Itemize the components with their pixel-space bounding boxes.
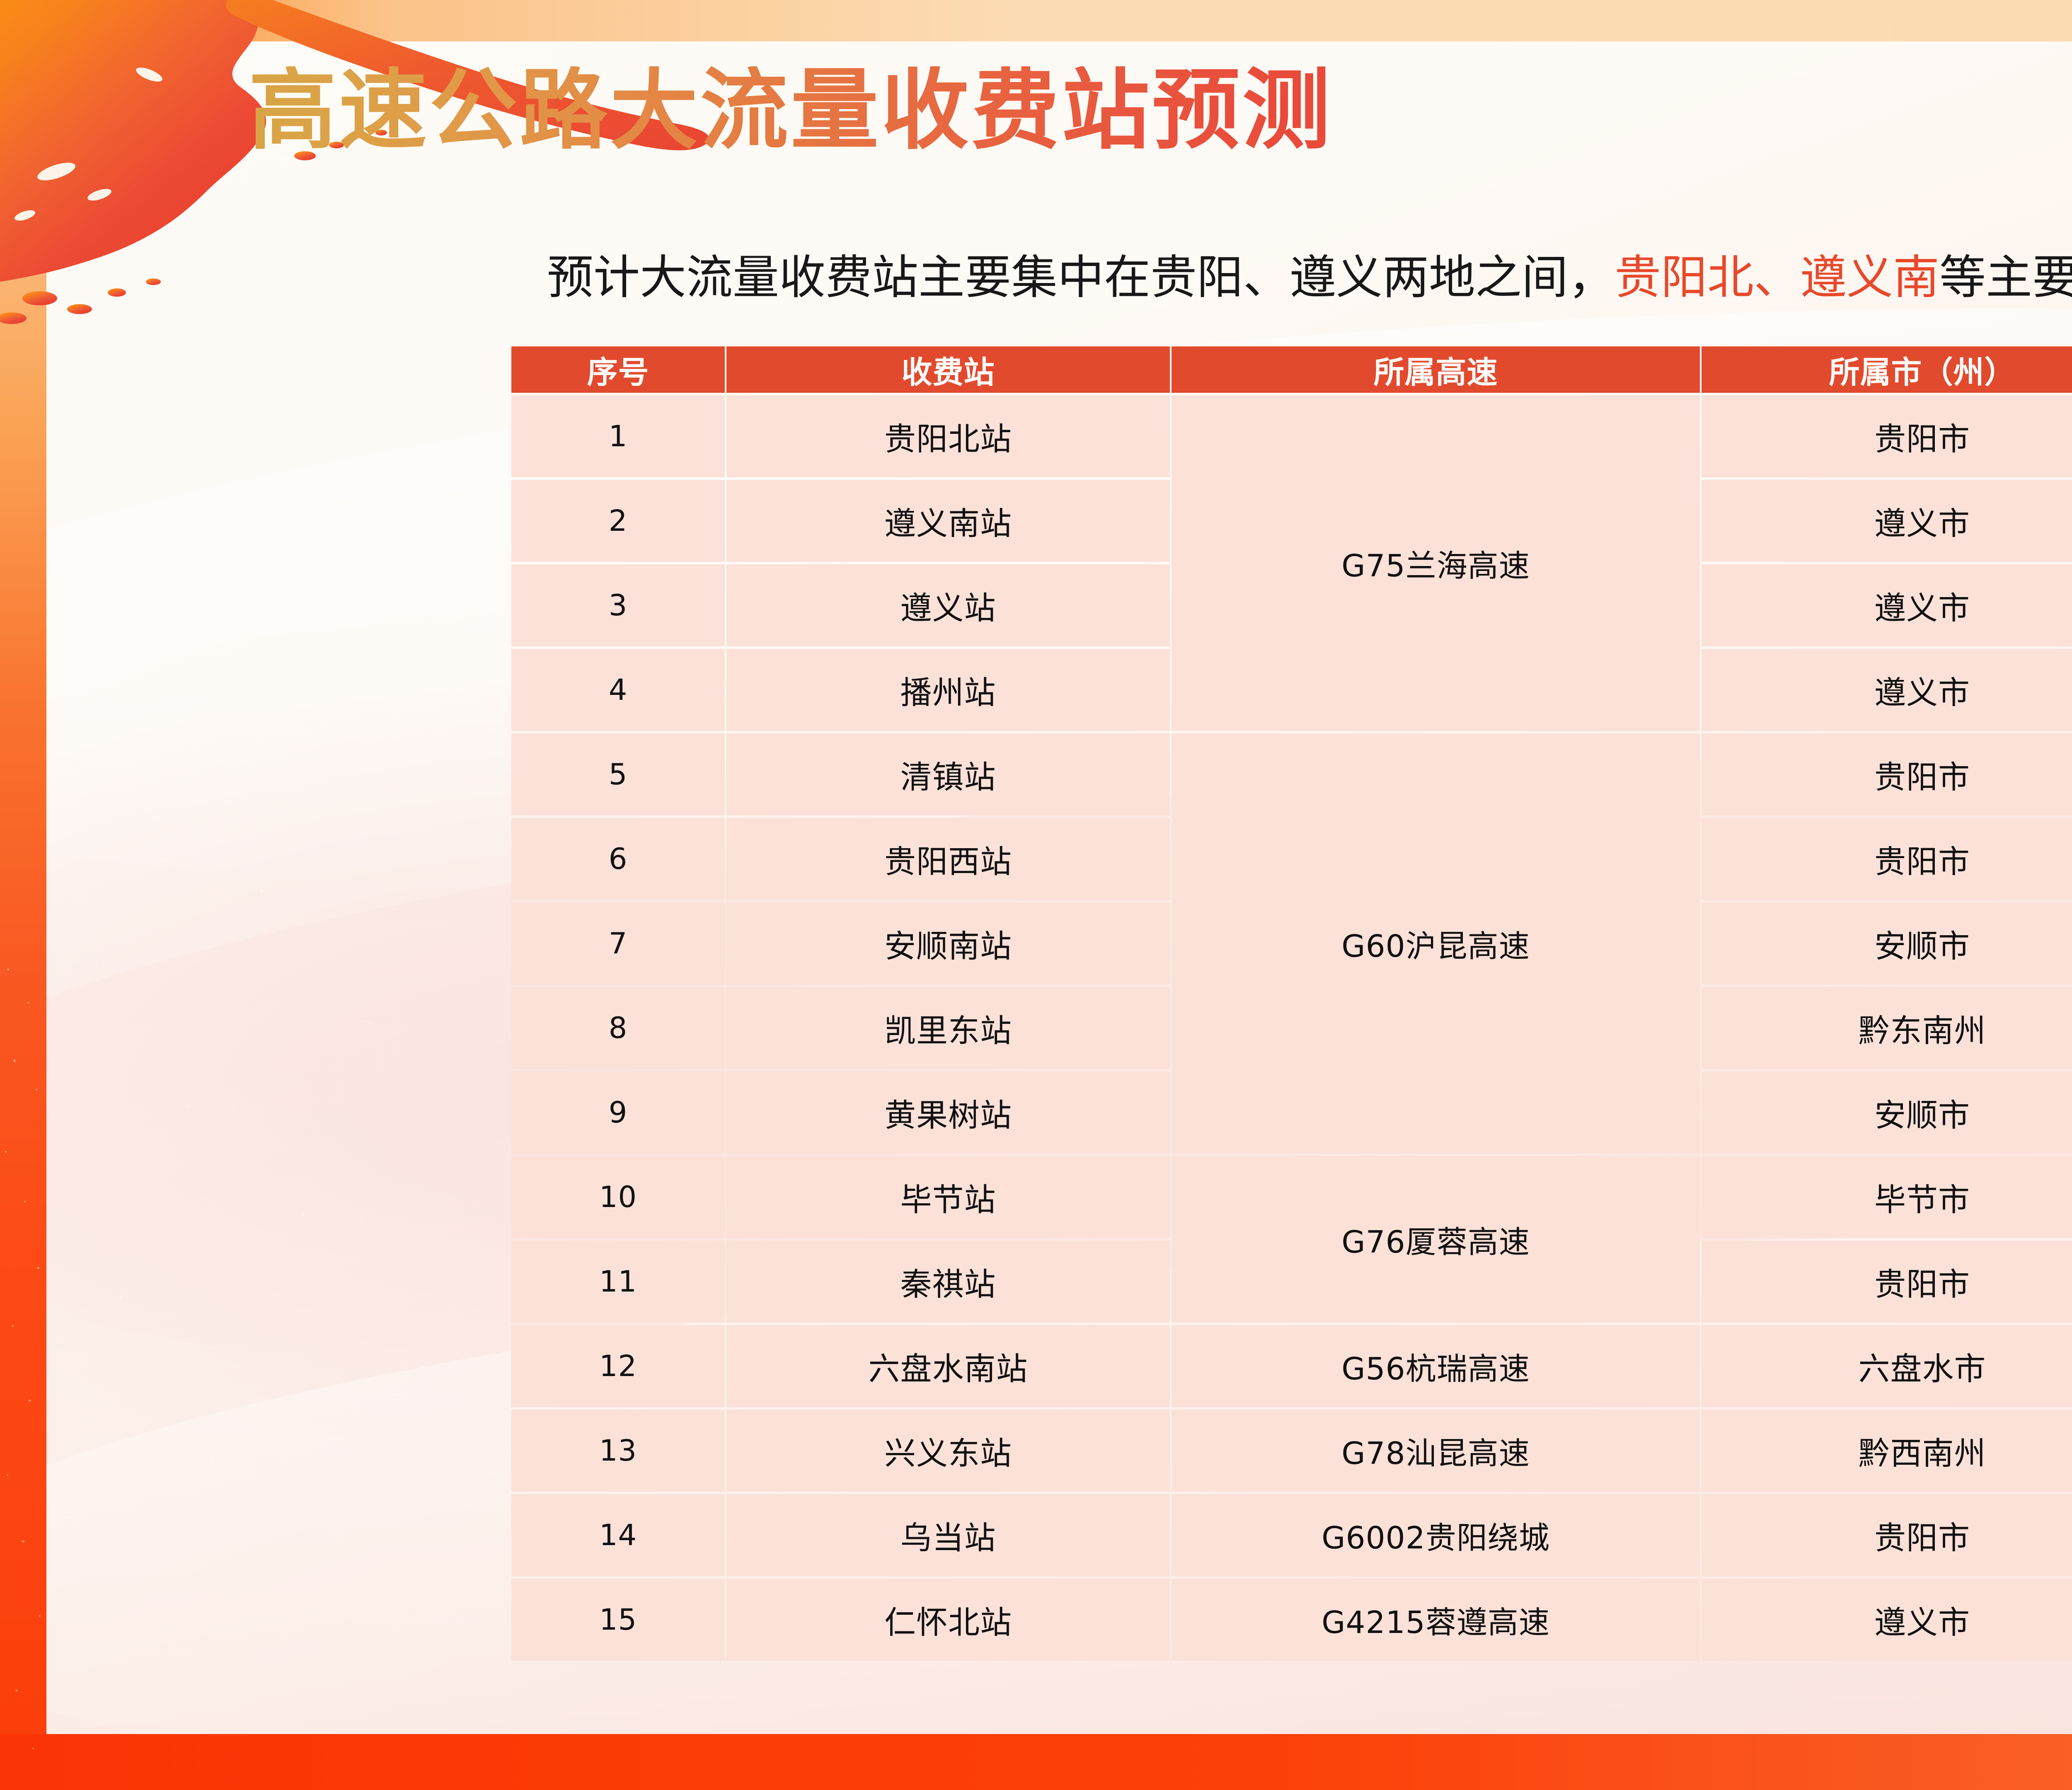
cell-city: 六盘水市 bbox=[1702, 1325, 2072, 1407]
cell-index: 1 bbox=[511, 395, 725, 477]
column-header-station: 收费站 bbox=[726, 346, 1170, 393]
cell-city: 安顺市 bbox=[1702, 902, 2072, 984]
cell-index: 6 bbox=[511, 818, 725, 900]
table-row: 15仁怀北站G4215蓉遵高速遵义市仁怀市 bbox=[511, 1579, 2072, 1661]
cell-station: 遵义站 bbox=[726, 564, 1170, 646]
cell-city: 遵义市 bbox=[1702, 1579, 2072, 1661]
cell-highway: G56杭瑞高速 bbox=[1172, 1325, 1700, 1407]
cell-station: 毕节站 bbox=[726, 1156, 1170, 1238]
subtitle-highlight: 贵阳北、遵义南 bbox=[1615, 251, 1939, 305]
cell-highway: G6002贵阳绕城 bbox=[1172, 1494, 1700, 1576]
table-row: 14乌当站G6002贵阳绕城贵阳市乌当区 bbox=[511, 1494, 2072, 1576]
cell-city: 贵阳市 bbox=[1702, 395, 2072, 477]
cell-station: 安顺南站 bbox=[726, 902, 1170, 984]
cell-index: 8 bbox=[511, 987, 725, 1069]
cell-station: 仁怀北站 bbox=[726, 1579, 1170, 1661]
table-row: 5清镇站G60沪昆高速贵阳市清镇市 bbox=[511, 733, 2072, 815]
cell-city: 安顺市 bbox=[1702, 1072, 2072, 1154]
cell-station: 清镇站 bbox=[726, 733, 1170, 815]
cell-index: 4 bbox=[511, 649, 725, 731]
cell-index: 14 bbox=[511, 1494, 725, 1576]
cell-station: 兴义东站 bbox=[726, 1410, 1170, 1492]
cell-index: 5 bbox=[511, 733, 725, 815]
cell-highway: G4215蓉遵高速 bbox=[1172, 1579, 1700, 1661]
cell-city: 遵义市 bbox=[1702, 564, 2072, 646]
cell-station: 乌当站 bbox=[726, 1494, 1170, 1576]
cell-index: 9 bbox=[511, 1072, 725, 1154]
cell-index: 10 bbox=[511, 1156, 725, 1238]
table-row: 1贵阳北站G75兰海高速贵阳市白云区 bbox=[511, 395, 2072, 477]
cell-index: 15 bbox=[511, 1579, 725, 1661]
title-container: 高速公路大流量收费站预测 bbox=[249, 66, 1333, 154]
cell-city: 贵阳市 bbox=[1702, 818, 2072, 900]
subtitle: 预计大流量收费站主要集中在贵阳、遵义两地之间，贵阳北、遵义南等主要枢纽收费站通行… bbox=[0, 249, 2072, 307]
cell-city: 黔西南州 bbox=[1702, 1410, 2072, 1492]
subtitle-part-1: 预计大流量收费站主要集中在贵阳、遵义两地之间， bbox=[547, 251, 1615, 305]
table-row: 12六盘水南站G56杭瑞高速六盘水市水城区 bbox=[511, 1325, 2072, 1407]
cell-index: 2 bbox=[511, 480, 725, 562]
cell-station: 六盘水南站 bbox=[726, 1325, 1170, 1407]
table-header: 序号 收费站 所属高速 所属市（州） 所属区（县、市） bbox=[511, 346, 2072, 393]
cell-city: 黔东南州 bbox=[1702, 987, 2072, 1069]
cell-station: 遵义南站 bbox=[726, 480, 1170, 562]
cell-index: 7 bbox=[511, 902, 725, 984]
cell-city: 遵义市 bbox=[1702, 480, 2072, 562]
cell-index: 3 bbox=[511, 564, 725, 646]
cell-city: 毕节市 bbox=[1702, 1156, 2072, 1238]
table-header-row: 序号 收费站 所属高速 所属市（州） 所属区（县、市） bbox=[511, 346, 2072, 393]
cell-station: 秦祺站 bbox=[726, 1241, 1170, 1323]
cell-index: 12 bbox=[511, 1325, 725, 1407]
cell-station: 播州站 bbox=[726, 649, 1170, 731]
cell-highway: G76厦蓉高速 bbox=[1172, 1156, 1700, 1323]
cell-highway: G78汕昆高速 bbox=[1172, 1410, 1700, 1492]
subtitle-part-2: 等主要枢纽收费站通行压力较大。 bbox=[1939, 251, 2072, 305]
column-header-highway: 所属高速 bbox=[1172, 346, 1700, 393]
table-row: 13兴义东站G78汕昆高速黔西南州兴义市 bbox=[511, 1410, 2072, 1492]
page-title: 高速公路大流量收费站预测 bbox=[249, 66, 1333, 154]
cell-city: 遵义市 bbox=[1702, 649, 2072, 731]
cell-station: 黄果树站 bbox=[726, 1072, 1170, 1154]
cell-index: 11 bbox=[511, 1241, 725, 1323]
cell-index: 13 bbox=[511, 1410, 725, 1492]
column-header-city: 所属市（州） bbox=[1702, 346, 2072, 393]
cell-city: 贵阳市 bbox=[1702, 733, 2072, 815]
cell-highway: G60沪昆高速 bbox=[1172, 733, 1700, 1154]
cell-station: 贵阳西站 bbox=[726, 818, 1170, 900]
cell-city: 贵阳市 bbox=[1702, 1241, 2072, 1323]
table-body: 1贵阳北站G75兰海高速贵阳市白云区2遵义南站遵义市红花岗区3遵义站遵义市汇川区… bbox=[511, 395, 2072, 1661]
toll-station-table-wrapper: 序号 收费站 所属高速 所属市（州） 所属区（县、市） 1贵阳北站G75兰海高速… bbox=[510, 344, 2072, 1663]
toll-station-table: 序号 收费站 所属高速 所属市（州） 所属区（县、市） 1贵阳北站G75兰海高速… bbox=[510, 344, 2072, 1663]
cell-station: 贵阳北站 bbox=[726, 395, 1170, 477]
table-row: 10毕节站G76厦蓉高速毕节市七星关区 bbox=[511, 1156, 2072, 1238]
cell-station: 凯里东站 bbox=[726, 987, 1170, 1069]
cell-city: 贵阳市 bbox=[1702, 1494, 2072, 1576]
column-header-index: 序号 bbox=[511, 346, 725, 393]
cell-highway: G75兰海高速 bbox=[1172, 395, 1700, 731]
frame-bottom-border bbox=[0, 1734, 2072, 1790]
sparkle-particles bbox=[0, 953, 46, 1790]
